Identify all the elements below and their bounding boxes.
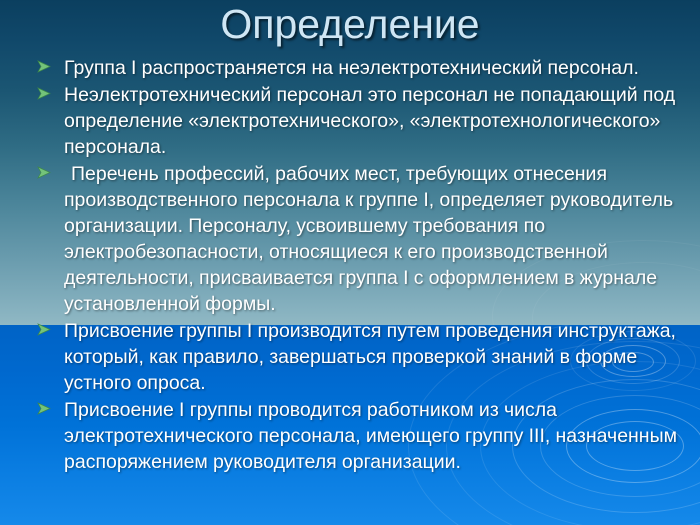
bullet-item: Присвоение I группы проводится работнико… — [30, 397, 680, 475]
slide-body: Группа I распространяется на неэлектроте… — [30, 55, 680, 476]
arrowhead-bullet-icon — [36, 401, 52, 419]
bullet-text: Группа I распространяется на неэлектроте… — [64, 55, 680, 81]
bullet-text: Перечень профессий, рабочих мест, требую… — [64, 161, 680, 317]
arrowhead-bullet-icon — [36, 322, 52, 340]
arrowhead-bullet-icon — [36, 86, 52, 104]
bullet-item: Неэлектротехнический персонал это персон… — [30, 82, 680, 160]
presentation-slide: Определение Группа I распространяется на… — [0, 0, 700, 525]
bullet-text: Неэлектротехнический персонал это персон… — [64, 82, 680, 160]
arrowhead-bullet-icon — [36, 59, 52, 77]
slide-title: Определение — [0, 0, 700, 50]
bullet-text: Присвоение группы I производится путем п… — [64, 318, 680, 396]
bullet-item: Присвоение группы I производится путем п… — [30, 318, 680, 396]
arrowhead-bullet-icon — [36, 165, 52, 183]
bullet-item: Группа I распространяется на неэлектроте… — [30, 55, 680, 81]
bullet-item: Перечень профессий, рабочих мест, требую… — [30, 161, 680, 317]
bullet-text: Присвоение I группы проводится работнико… — [64, 397, 680, 475]
